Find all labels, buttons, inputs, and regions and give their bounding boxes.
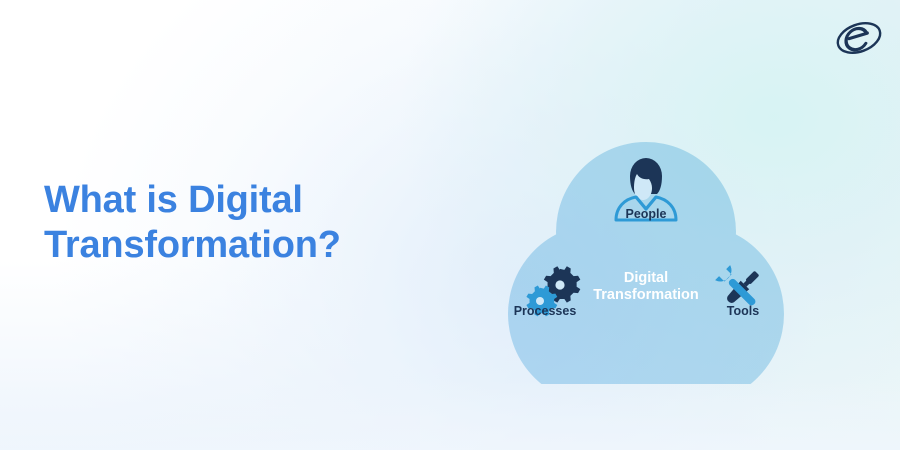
venn-node-label-processes: Processes	[514, 304, 577, 318]
page-title-line-1: What is Digital	[44, 178, 464, 223]
page-title-line-2: Transformation?	[44, 223, 464, 268]
background-wash-left	[0, 260, 420, 450]
background-wash-bottom	[0, 380, 900, 450]
banner: What is Digital Transformation?	[0, 0, 900, 450]
venn-node-label-tools: Tools	[727, 304, 759, 318]
page-title: What is Digital Transformation?	[44, 178, 464, 268]
venn-center-label-line-1: Digital	[624, 270, 668, 286]
venn-node-label-people: People	[626, 207, 667, 221]
e-logo-icon	[834, 18, 885, 58]
venn-diagram: People Processes	[480, 64, 820, 384]
brand-logo[interactable]	[832, 12, 886, 64]
venn-center-label-line-2: Transformation	[593, 287, 699, 303]
